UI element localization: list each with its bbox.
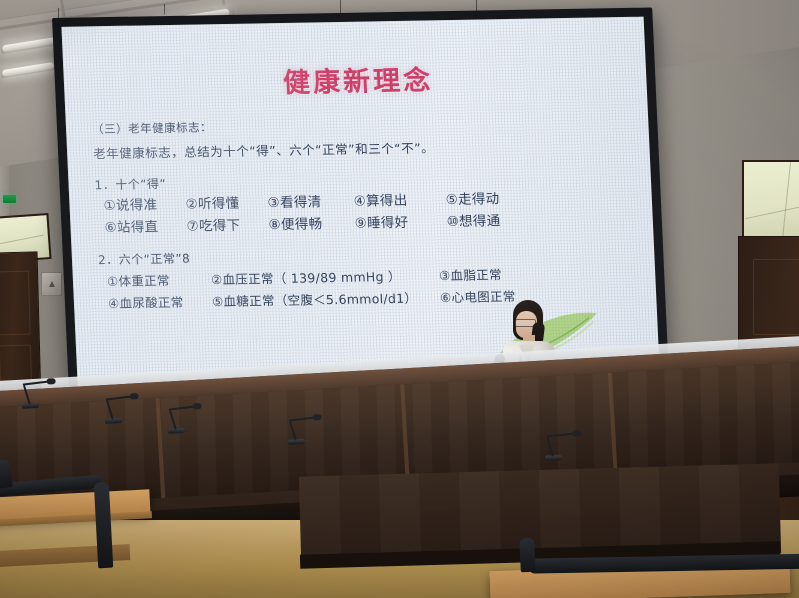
gooseneck-microphone[interactable] (287, 415, 320, 445)
microphone-neck (546, 437, 553, 457)
list-item: ④算得出 (353, 190, 446, 213)
list-item: ⑩想得通 (446, 211, 501, 233)
list-item: ③血脂正常 (439, 265, 503, 286)
microphone-arm (23, 381, 49, 386)
list-item: ⑥站得直 (104, 216, 187, 238)
transom-line (0, 235, 44, 245)
list-item: ⑧便得畅 (268, 213, 355, 235)
microphone-head (46, 378, 55, 384)
list-item: ⑤血糖正常（空腹＜5.6mmol/d1） (212, 288, 441, 312)
gooseneck-microphone[interactable] (544, 431, 579, 460)
list-item: ①说得准 (103, 194, 186, 216)
warning-triangle-icon (49, 281, 55, 287)
gooseneck-microphone[interactable] (104, 394, 137, 424)
door-panel (0, 271, 31, 336)
list-item: ①体重正常 (107, 270, 212, 292)
gooseneck-microphone[interactable] (21, 379, 54, 409)
microphone-head (129, 393, 138, 399)
warning-placard (41, 272, 62, 296)
microphone-head (192, 403, 201, 409)
list-item: ②听得懂 (185, 193, 268, 215)
door-panel (753, 259, 799, 335)
transom-line (782, 162, 791, 240)
gooseneck-microphone[interactable] (167, 404, 200, 434)
exit-sign-icon (3, 195, 16, 203)
microphone-neck (169, 410, 177, 430)
microphone-neck (106, 400, 114, 420)
microphone-head (312, 414, 321, 420)
seat-post (519, 538, 536, 573)
list-item: ⑦吃得下 (186, 215, 269, 237)
microphone-neck (23, 385, 31, 405)
microphone-neck (289, 421, 297, 441)
lecture-hall-photo: 健康新理念 （三）老年健康标志： 老年健康标志，总结为十个“得”、六个“正常”和… (0, 0, 799, 598)
right-door-transom (742, 160, 799, 242)
microphone-arm (289, 417, 315, 422)
transom-line (745, 198, 799, 219)
list-item: ⑤走得动 (445, 189, 500, 211)
microphone-head (572, 430, 581, 436)
microphone-arm (169, 406, 195, 411)
list-item: ④血尿酸正常 (108, 292, 213, 314)
microphone-arm (546, 433, 572, 438)
list-item: ②血压正常（ 139/89 mmHg ） (211, 266, 440, 290)
list-item: ③看得清 (267, 191, 354, 213)
microphone-arm (106, 396, 132, 401)
list-item: ⑨睡得好 (354, 212, 447, 235)
slide-title: 健康新理念 (87, 55, 629, 103)
